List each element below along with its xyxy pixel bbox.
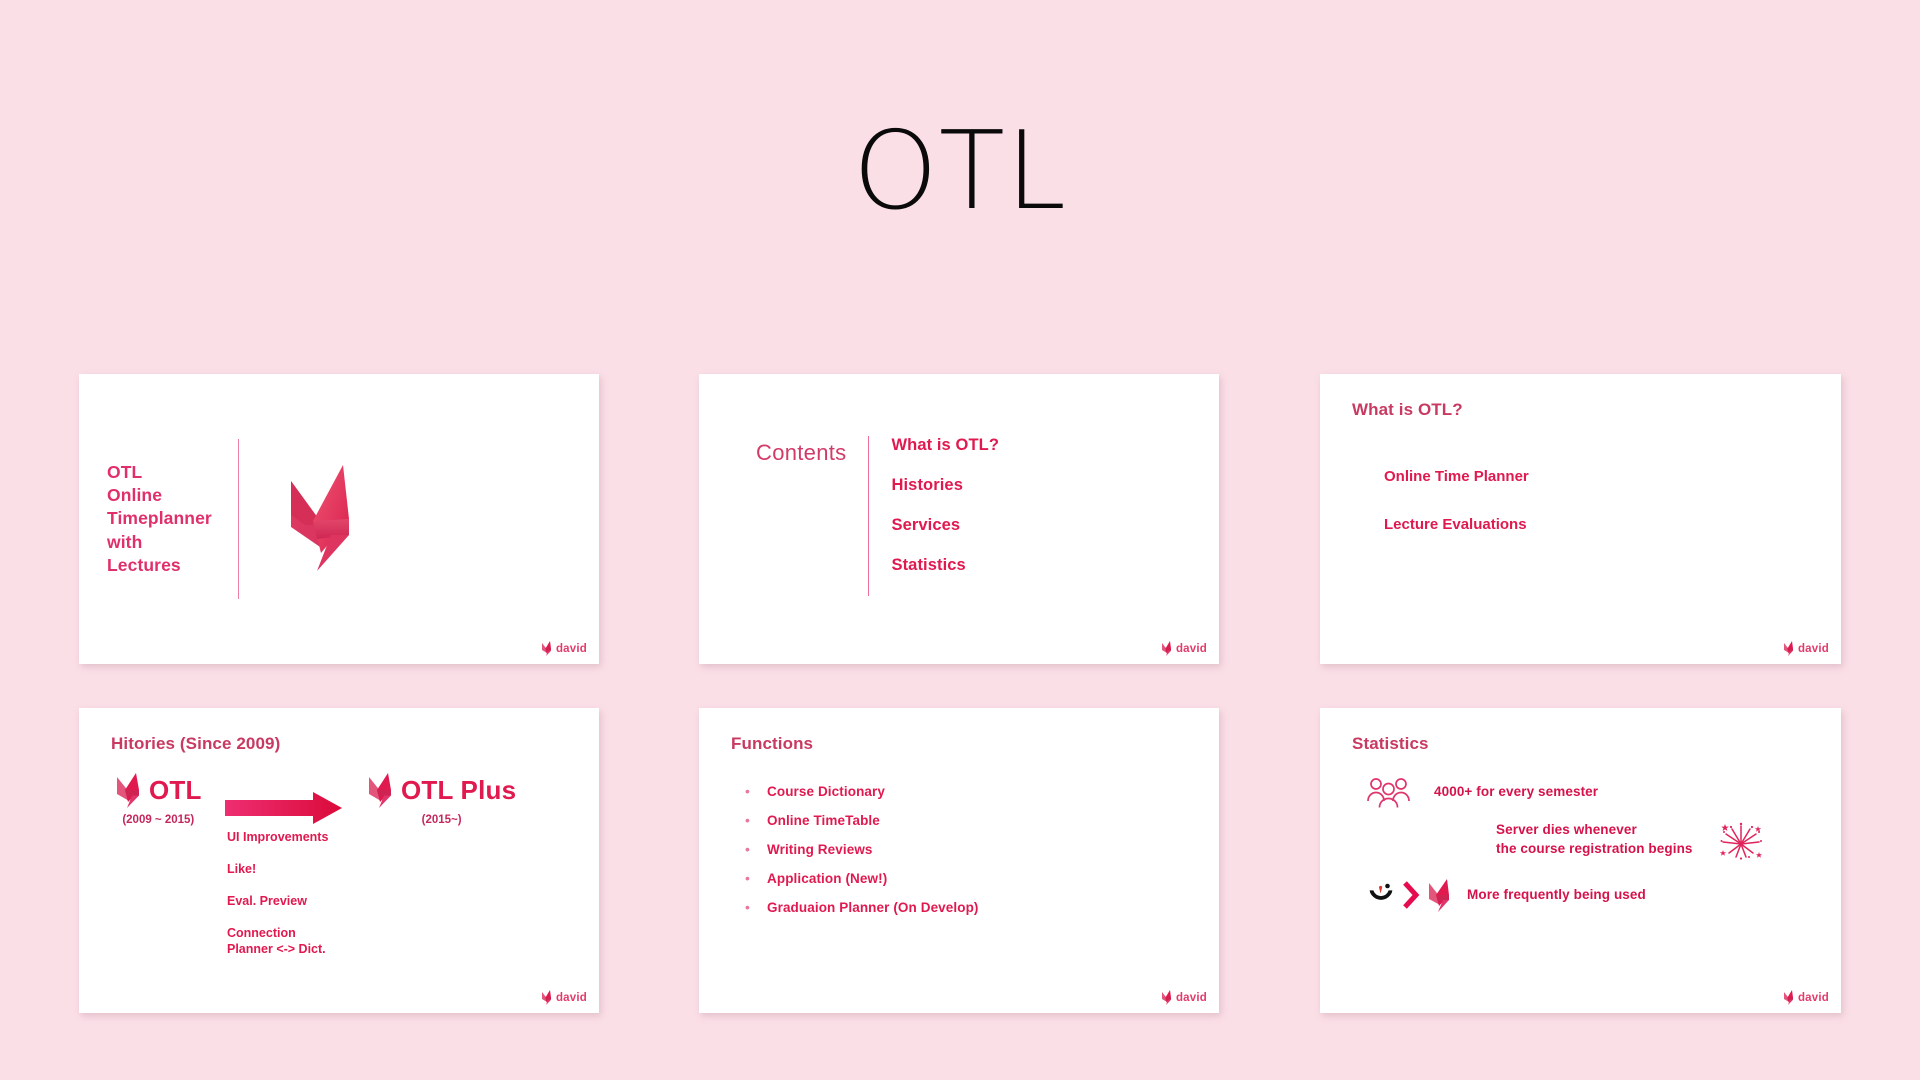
history-step-eval-preview: Eval. Preview	[227, 893, 328, 909]
slide-thumbnail-functions[interactable]: Functions • Course Dictionary • Online T…	[699, 708, 1219, 1013]
otl-bolt-logo-icon	[367, 772, 393, 808]
function-item-course-dictionary: Course Dictionary	[767, 784, 885, 799]
bullet-icon: •	[745, 784, 767, 798]
history-node-brandline: OTL	[115, 772, 202, 808]
history-node-brandline: OTL Plus	[367, 772, 516, 808]
slide-thumbnail-contents[interactable]: Contents What is OTL? Histories Services…	[699, 374, 1219, 664]
statistic-row-usage: More frequently being used	[1366, 878, 1646, 912]
statistic-row-users: 4000+ for every semester	[1366, 776, 1598, 808]
slide-header: Statistics	[1352, 734, 1429, 754]
group-of-people-icon	[1366, 776, 1412, 808]
otl-bolt-logo-icon	[1783, 641, 1794, 656]
history-step-connection: Connection Planner <-> Dict.	[227, 925, 328, 957]
slide-signature: david	[1783, 641, 1829, 656]
function-item-writing-reviews: Writing Reviews	[767, 842, 873, 857]
what-is-otl-list: Online Time Planner Lecture Evaluations	[1384, 468, 1529, 533]
statistic-label-usage: More frequently being used	[1467, 886, 1646, 905]
cover-content: OTLOnline Timeplanner with Lectures	[79, 374, 599, 664]
cover-divider	[238, 439, 239, 599]
otl-bolt-logo-icon	[115, 772, 141, 808]
signature-label: david	[1176, 643, 1207, 655]
history-node-brand: OTL	[149, 775, 202, 806]
functions-list: • Course Dictionary • Online TimeTable •…	[745, 784, 979, 915]
history-node-otl: OTL (2009 ~ 2015)	[115, 772, 202, 826]
statistic-row-server: Server dies whenever the course registra…	[1496, 820, 1763, 860]
statistic-icon-group	[1366, 878, 1451, 912]
history-node-years: (2009 ~ 2015)	[122, 814, 194, 826]
history-steps-list: UI Improvements Like! Eval. Preview Conn…	[227, 829, 328, 957]
history-step-ui-improvements: UI Improvements	[227, 829, 328, 845]
otl-bolt-logo-icon	[283, 463, 355, 575]
slide-thumbnail-cover[interactable]: OTLOnline Timeplanner with Lectures	[79, 374, 599, 664]
signature-label: david	[1798, 992, 1829, 1004]
otl-bolt-logo-icon	[1783, 990, 1794, 1005]
history-step-like: Like!	[227, 861, 328, 877]
slide-signature: david	[541, 641, 587, 656]
bullet-icon: •	[745, 871, 767, 885]
contents-item-statistics[interactable]: Statistics	[891, 556, 999, 575]
contents-label: Contents	[756, 436, 846, 466]
otl-bolt-logo-icon	[1161, 641, 1172, 656]
slide-header: Hitories (Since 2009)	[111, 734, 280, 754]
signature-label: david	[1798, 643, 1829, 655]
bullet-icon: •	[745, 842, 767, 856]
contents-item-what-is-otl[interactable]: What is OTL?	[891, 436, 999, 455]
signature-label: david	[556, 992, 587, 1004]
chevron-right-icon	[1402, 880, 1421, 910]
statistic-label-server: Server dies whenever the course registra…	[1496, 821, 1693, 859]
slide-signature: david	[1161, 990, 1207, 1005]
list-item: • Application (New!)	[745, 871, 979, 886]
otl-bolt-logo-icon	[1427, 878, 1451, 912]
history-node-years: (2015~)	[422, 814, 462, 826]
history-node-brand: OTL Plus	[401, 775, 516, 806]
history-node-otl-plus: OTL Plus (2015~)	[367, 772, 516, 826]
statistic-label-users: 4000+ for every semester	[1434, 783, 1598, 802]
slide-signature: david	[541, 990, 587, 1005]
cover-title-first-line: OTL	[107, 462, 142, 482]
what-item-online-time-planner: Online Time Planner	[1384, 468, 1529, 485]
list-item: • Writing Reviews	[745, 842, 979, 857]
signature-label: david	[1176, 992, 1207, 1004]
slide-thumbnail-statistics[interactable]: Statistics 4000+ for every semester Serv…	[1320, 708, 1841, 1013]
bullet-icon: •	[745, 900, 767, 914]
contents-list: What is OTL? Histories Services Statisti…	[891, 436, 999, 575]
slide-signature: david	[1783, 990, 1829, 1005]
list-item: • Course Dictionary	[745, 784, 979, 799]
bullet-icon: •	[745, 813, 767, 827]
presentation-overview: OTL OTLOnline Timeplanner with Lectures	[0, 0, 1920, 1080]
slide-header: What is OTL?	[1352, 400, 1463, 420]
list-item: • Graduaion Planner (On Develop)	[745, 900, 979, 915]
slide-thumbnail-histories[interactable]: Hitories (Since 2009) OTL (2009 ~ 2015)	[79, 708, 599, 1013]
contents-item-services[interactable]: Services	[891, 516, 999, 535]
function-item-graduation-planner: Graduaion Planner (On Develop)	[767, 900, 979, 915]
contents-block: Contents What is OTL? Histories Services…	[756, 436, 999, 596]
fireworks-icon	[1719, 820, 1763, 860]
slide-thumbnail-what-is-otl[interactable]: What is OTL? Online Time Planner Lecture…	[1320, 374, 1841, 664]
page-title: OTL	[0, 118, 1920, 226]
cover-title-text: OTLOnline Timeplanner with Lectures	[107, 461, 212, 577]
list-item: • Online TimeTable	[745, 813, 979, 828]
slide-header: Functions	[731, 734, 813, 754]
what-item-lecture-evaluations: Lecture Evaluations	[1384, 516, 1529, 533]
contents-item-histories[interactable]: Histories	[891, 476, 999, 495]
function-item-application: Application (New!)	[767, 871, 887, 886]
right-arrow-icon	[225, 791, 343, 825]
otl-bolt-logo-icon	[1161, 990, 1172, 1005]
cover-title-rest-lines: Online Timeplanner with Lectures	[107, 485, 212, 575]
function-item-online-timetable: Online TimeTable	[767, 813, 880, 828]
otl-bolt-logo-icon	[541, 641, 552, 656]
contents-divider	[868, 436, 869, 596]
otl-bolt-logo-icon	[541, 990, 552, 1005]
slide-signature: david	[1161, 641, 1207, 656]
signature-label: david	[556, 643, 587, 655]
ara-smiley-icon	[1366, 880, 1396, 910]
